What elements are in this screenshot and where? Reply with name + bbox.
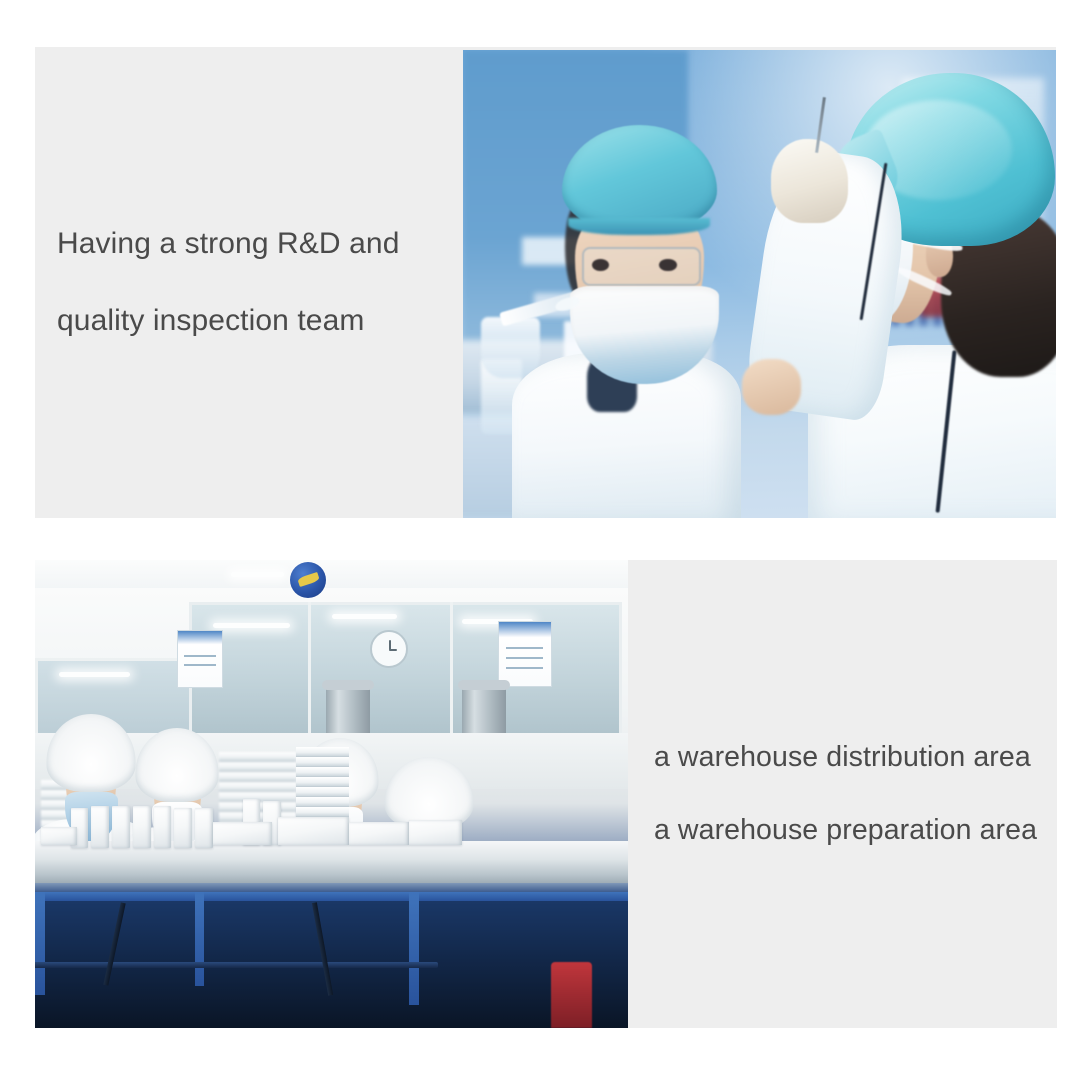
carton bbox=[112, 806, 130, 848]
table-lower-rail bbox=[35, 962, 438, 968]
table-frame-leg-2 bbox=[195, 892, 204, 986]
table-frame-leg-1 bbox=[35, 892, 45, 995]
carton bbox=[154, 806, 172, 848]
ceiling-light-1 bbox=[213, 623, 290, 628]
stainless-steel-table bbox=[35, 841, 628, 888]
page-root: Having a strong R&D and quality inspecti… bbox=[0, 0, 1080, 1080]
carton-flat bbox=[41, 827, 77, 846]
lab-technician-front bbox=[522, 125, 771, 518]
ceiling-light-5 bbox=[231, 572, 284, 577]
top-caption-line-1: Having a strong R&D and bbox=[57, 225, 399, 263]
top-caption: Having a strong R&D and quality inspecti… bbox=[57, 187, 399, 379]
bottom-caption-line-1: a warehouse distribution area bbox=[654, 739, 1037, 775]
ceiling-light-4 bbox=[59, 672, 130, 677]
lab-eye-right bbox=[659, 259, 676, 272]
lower-hand bbox=[742, 359, 801, 415]
gloved-hand bbox=[771, 139, 848, 223]
hair-net-cap-front bbox=[562, 125, 716, 231]
carton bbox=[91, 806, 109, 848]
carton-flat bbox=[409, 820, 462, 846]
top-caption-line-2: quality inspection team bbox=[57, 302, 399, 340]
packaging-photo-canvas bbox=[35, 560, 628, 1028]
wall-notice-board bbox=[498, 621, 552, 687]
bottom-panel: a warehouse distribution area a warehous… bbox=[35, 560, 1057, 1028]
bottom-caption: a warehouse distribution area a warehous… bbox=[654, 703, 1037, 885]
ceiling-light-2 bbox=[332, 614, 397, 619]
carton-flat bbox=[213, 822, 272, 845]
wall-notice-board-2 bbox=[177, 630, 223, 688]
wall-clock bbox=[370, 630, 408, 668]
hair-net-1 bbox=[47, 714, 136, 791]
table-frame-rail-top bbox=[35, 892, 628, 901]
carton bbox=[195, 808, 213, 848]
window-mullion-1 bbox=[308, 602, 311, 733]
carton bbox=[133, 806, 151, 848]
top-panel: Having a strong R&D and quality inspecti… bbox=[35, 47, 1056, 518]
window-mullion-2 bbox=[450, 602, 453, 733]
bottom-caption-pane: a warehouse distribution area a warehous… bbox=[628, 560, 1057, 1028]
lab-photo-canvas bbox=[463, 50, 1056, 518]
hair-net-2 bbox=[136, 728, 219, 801]
carton-stack-mid bbox=[296, 747, 349, 822]
carton-flat bbox=[349, 822, 408, 845]
lab-photo bbox=[463, 50, 1056, 518]
red-floor-item bbox=[551, 962, 593, 1028]
top-caption-pane: Having a strong R&D and quality inspecti… bbox=[35, 47, 463, 518]
factory-floor bbox=[35, 892, 628, 1028]
packaging-photo bbox=[35, 560, 628, 1028]
bottom-caption-line-2: a warehouse preparation area bbox=[654, 812, 1037, 848]
carton bbox=[174, 808, 192, 848]
table-frame-leg-3 bbox=[409, 892, 419, 1004]
